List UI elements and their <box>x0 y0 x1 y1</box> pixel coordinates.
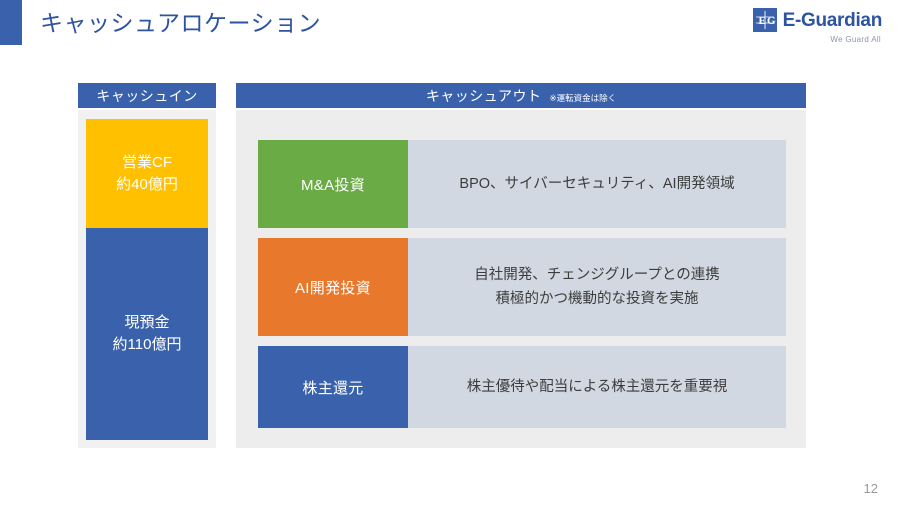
cash-out-row-ai: AI開発投資 自社開発、チェンジグループとの連携 積極的かつ機動的な投資を実施 <box>258 238 786 336</box>
deposits-label: 現預金 <box>124 312 169 334</box>
cash-in-item-operating-cf: 営業CF 約40億円 <box>86 119 208 228</box>
cash-out-label-ma-text: M&A投資 <box>301 174 365 195</box>
cash-out-row-ma: M&A投資 BPO、サイバーセキュリティ、AI開発領域 <box>258 140 786 228</box>
logo-wordmark: E-Guardian <box>783 11 882 30</box>
cash-out-label-ai-text: AI開発投資 <box>295 277 371 298</box>
company-logo: E G E-Guardian We Guard All <box>753 8 882 44</box>
deposits-amount: 約110億円 <box>113 334 182 356</box>
cash-out-label-ai: AI開発投資 <box>258 238 408 336</box>
eguardian-mark-icon: E G <box>753 8 777 32</box>
page-number: 12 <box>864 481 878 496</box>
cash-out-label-shareholder-return: 株主還元 <box>258 346 408 428</box>
cash-out-desc-ai-line1: 自社開発、チェンジグループとの連携 <box>474 263 719 287</box>
cash-out-panel: M&A投資 BPO、サイバーセキュリティ、AI開発領域 AI開発投資 自社開発、… <box>236 110 806 448</box>
cash-out-desc-ai-line2: 積極的かつ機動的な投資を実施 <box>474 287 719 311</box>
title-accent-bar <box>0 0 22 45</box>
cash-out-label-ma: M&A投資 <box>258 140 408 228</box>
page-title: キャッシュアロケーション <box>40 5 321 41</box>
operating-cf-amount: 約40億円 <box>116 174 178 196</box>
cash-in-item-deposits: 現預金 約110億円 <box>86 228 208 440</box>
cash-out-desc-shareholder-return-line1: 株主優待や配当による株主還元を重要視 <box>467 375 728 399</box>
cash-out-header-label: キャッシュアウト <box>426 86 542 106</box>
logo-tagline: We Guard All <box>830 35 881 44</box>
cash-in-panel: 営業CF 約40億円 現預金 約110億円 <box>78 110 216 448</box>
cash-out-label-shareholder-return-text: 株主還元 <box>302 377 363 398</box>
cash-out-header: キャッシュアウト ※運転資金は除く <box>236 83 806 108</box>
cash-out-desc-ma: BPO、サイバーセキュリティ、AI開発領域 <box>408 140 786 228</box>
cash-in-header-label: キャッシュイン <box>96 86 198 106</box>
cash-out-row-shareholder-return: 株主還元 株主優待や配当による株主還元を重要視 <box>258 346 786 428</box>
operating-cf-label: 営業CF <box>122 152 172 174</box>
cash-out-desc-ai: 自社開発、チェンジグループとの連携 積極的かつ機動的な投資を実施 <box>408 238 786 336</box>
slide-canvas: キャッシュアロケーション E G E-Guardian We Guard All… <box>0 0 900 506</box>
cash-out-desc-shareholder-return: 株主優待や配当による株主還元を重要視 <box>408 346 786 428</box>
cash-out-desc-ma-line1: BPO、サイバーセキュリティ、AI開発領域 <box>459 172 734 196</box>
cash-in-header: キャッシュイン <box>78 83 216 108</box>
logo-row: E G E-Guardian <box>753 8 882 32</box>
cash-out-header-note: ※運転資金は除く <box>550 92 617 104</box>
